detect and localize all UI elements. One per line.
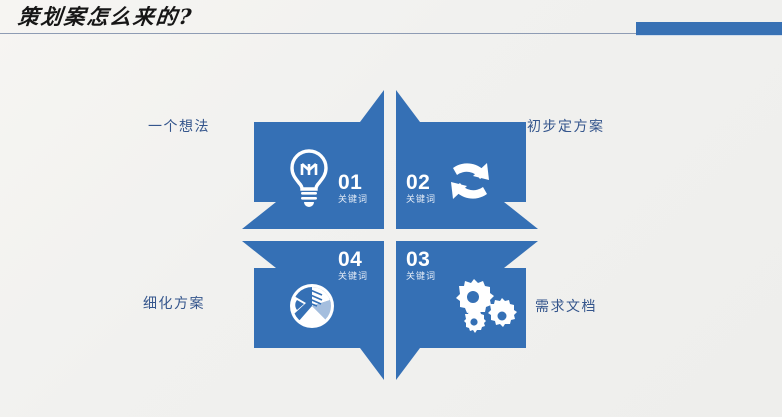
slide-header: 策划案怎么来的? — [0, 0, 782, 40]
stage-label-preliminary-plan: 初步定方案 — [527, 116, 605, 136]
stage-label-requirements-doc: 需求文档 — [535, 296, 597, 316]
quadrant-number-01: 01 — [338, 172, 362, 193]
stage-label-idea: 一个想法 — [148, 116, 210, 136]
quadrant-keyword-04: 关键词 — [338, 272, 368, 281]
header-accent-bar — [636, 22, 782, 35]
slide-canvas: 策划案怎么来的? — [0, 0, 782, 417]
stage-label-refine-plan: 细化方案 — [143, 293, 205, 313]
quadrant-number-03: 03 — [406, 249, 430, 270]
pie-chart-icon — [290, 284, 334, 328]
pinwheel-diagram: 01 关键词 02 关键词 03 关键词 04 关键词 — [238, 82, 542, 388]
quadrant-keyword-03: 关键词 — [406, 272, 436, 281]
quadrant-shape-02[interactable] — [396, 90, 538, 229]
quadrant-shape-01[interactable] — [242, 90, 384, 229]
page-title: 策划案怎么来的? — [16, 1, 194, 31]
quadrant-number-02: 02 — [406, 172, 430, 193]
pinwheel-shapes — [238, 82, 542, 388]
quadrant-keyword-01: 关键词 — [338, 195, 368, 204]
quadrant-number-04: 04 — [338, 249, 362, 270]
quadrant-keyword-02: 关键词 — [406, 195, 436, 204]
